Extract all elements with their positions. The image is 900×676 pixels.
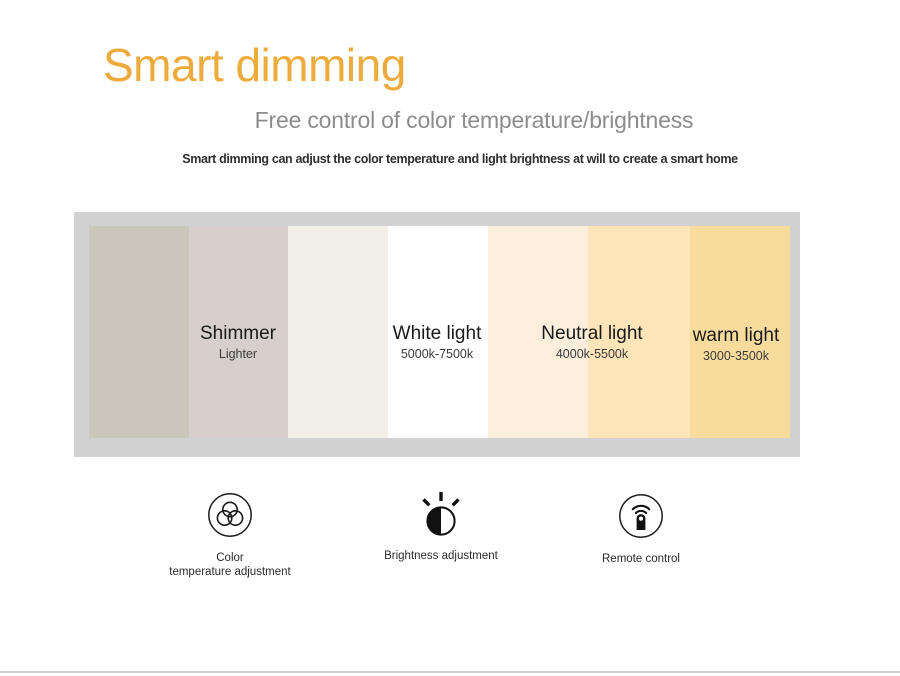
feature-remote-control: Remote control xyxy=(526,493,756,566)
swatch-strip: Shimmer Lighter White light 5000k-7500k … xyxy=(89,226,790,438)
feature-brightness-caption: Brightness adjustment xyxy=(326,549,556,563)
feature-color-temperature-caption: Color temperature adjustment xyxy=(115,551,345,580)
label-shimmer: Shimmer Lighter xyxy=(138,323,338,364)
feature-remote-control-caption: Remote control xyxy=(526,552,756,566)
color-temperature-panel: Shimmer Lighter White light 5000k-7500k … xyxy=(74,212,800,457)
feature-row: Color temperature adjustment Brightness … xyxy=(0,492,900,602)
label-shimmer-sub: Lighter xyxy=(138,345,338,364)
remote-control-icon xyxy=(526,493,756,545)
feature-brightness-adjustment: Brightness adjustment xyxy=(326,490,556,563)
label-warm-light: warm light 3000-3500k xyxy=(636,325,790,366)
page-subtitle: Free control of color temperature/bright… xyxy=(0,107,900,134)
page-description: Smart dimming can adjust the color tempe… xyxy=(0,152,900,166)
label-warm-light-sub: 3000-3500k xyxy=(636,347,790,366)
color-temperature-icon xyxy=(115,492,345,544)
label-warm-light-title: warm light xyxy=(636,325,790,347)
page-title: Smart dimming xyxy=(103,41,406,89)
feature-color-temperature-adjustment: Color temperature adjustment xyxy=(115,492,345,580)
label-shimmer-title: Shimmer xyxy=(138,323,338,345)
bottom-divider xyxy=(0,671,900,673)
smart-dimming-infographic: Smart dimming Free control of color temp… xyxy=(0,0,900,676)
brightness-icon xyxy=(326,490,556,542)
